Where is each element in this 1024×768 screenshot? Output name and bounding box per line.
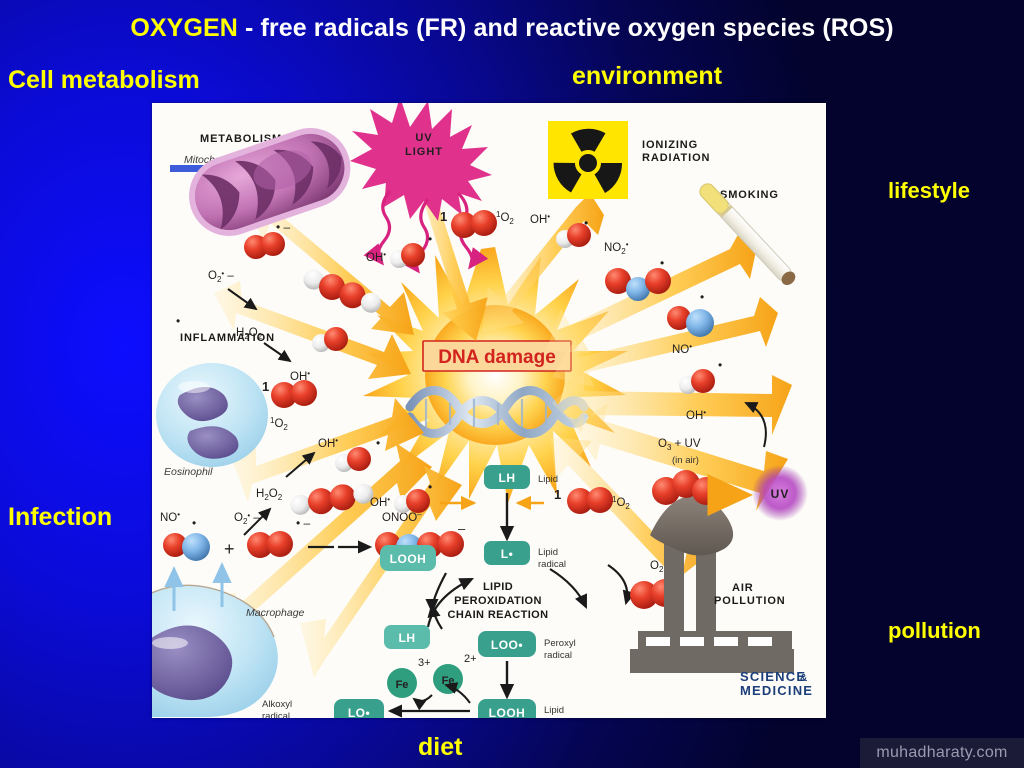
tag-alkoxyl: LO• xyxy=(348,706,370,718)
title-highlight: OXYGEN xyxy=(130,14,238,42)
tag-lipid-radical: L• xyxy=(501,547,514,561)
reagent-hydroxyl-lipid: OH• xyxy=(370,495,390,509)
tag-peroxyl: LOO• xyxy=(491,638,523,652)
edge-label-environment: environment xyxy=(572,62,722,91)
charge-iron-two: 2+ xyxy=(464,653,477,665)
slide-canvas: OXYGEN - free radicals (FR) and reactive… xyxy=(0,0,1024,768)
edge-label-cell-metabolism: Cell metabolism xyxy=(8,66,200,95)
species-nitric-oxide-smoking: NO• xyxy=(672,342,692,356)
node-looh-left: LOOH xyxy=(380,545,436,571)
node-peroxyl: LOO• xyxy=(478,631,536,657)
radical-dot-hydroxyl-eosino: • xyxy=(376,436,380,450)
edge-label-infection: Infection xyxy=(8,503,112,532)
edge-label-pollution: pollution xyxy=(888,618,981,644)
caption-peroxyl-1: Peroxyl xyxy=(544,638,576,649)
tag-lipid-peroxide: LOOH xyxy=(489,706,526,718)
species-ozone-uv: O3 + UV xyxy=(658,438,701,452)
node-lh-left: LH xyxy=(384,625,430,649)
heading-uv-light: UV xyxy=(415,132,432,144)
species-ozone-uv-note: (in air) xyxy=(672,455,699,466)
charge-iron-three: 3+ xyxy=(418,657,431,669)
caption-peroxyl-2: radical xyxy=(544,650,572,661)
label-macrophage: Macrophage xyxy=(246,607,305,619)
credit-science-medicine: SCIENCE MEDICINE & xyxy=(740,669,813,698)
superscript-one-top: 1 xyxy=(440,209,447,224)
node-alkoxyl: LO• xyxy=(334,699,384,718)
species-nitric-oxide-macrophage: NO• xyxy=(160,510,180,524)
node-lipid-radical: L• xyxy=(484,541,530,565)
radical-dot-lipid: • xyxy=(428,480,432,494)
heading-inflammation: INFLAMMATION xyxy=(180,332,275,344)
radical-dot-no: • xyxy=(700,290,704,304)
heading-air-pollution-1: AIR xyxy=(732,582,754,594)
caption-lipid-peroxide-1: Lipid xyxy=(544,705,564,716)
title-rest: - free radicals (FR) and reactive oxygen… xyxy=(238,14,894,42)
node-lipid-peroxide: LOOH xyxy=(478,699,536,718)
uv-badge-label: UV xyxy=(771,487,790,501)
radical-dot-superoxide: • – xyxy=(276,220,291,234)
caption-lipid-radical-1: Lipid xyxy=(538,547,558,558)
heading-smoking: SMOKING xyxy=(720,189,779,201)
radical-dot-superoxide-macro: • – xyxy=(296,516,311,530)
watermark: muhadharaty.com xyxy=(860,738,1024,768)
species-superoxide-metabolism: O2• – xyxy=(208,269,234,284)
radical-dot-no-macro: • xyxy=(192,516,196,530)
ros-diagram-panel: DNA damage xyxy=(152,103,826,718)
radical-dot-hydroxyl-metab: • xyxy=(176,314,180,328)
charge-peroxynitrite: – xyxy=(458,521,466,536)
species-hydroxyl-ionizing: OH• xyxy=(530,212,550,226)
heading-ionizing-radiation-1: IONIZING xyxy=(642,139,698,151)
credit-ampersand: & xyxy=(800,673,807,684)
lipid-cycle-title-3: CHAIN REACTION xyxy=(448,609,549,621)
radical-dot-ionizing: • xyxy=(584,216,588,230)
tag-looh-left: LOOH xyxy=(390,552,427,566)
radical-dot-no2: • xyxy=(660,256,664,270)
radical-dot-uv: • xyxy=(428,232,432,246)
species-hydroxyl-uv: OH• xyxy=(366,250,386,264)
credit-line-1: SCIENCE xyxy=(740,669,806,684)
iron-two-icon: Fe xyxy=(433,664,463,694)
heading-ionizing-radiation-2: RADIATION xyxy=(642,152,710,164)
lipid-cycle-title-1: LIPID xyxy=(483,581,513,593)
slide-title: OXYGEN - free radicals (FR) and reactive… xyxy=(0,14,1024,43)
label-eosinophil: Eosinophil xyxy=(164,466,213,478)
heading-uv-light-2: LIGHT xyxy=(405,146,443,158)
uv-badge: UV xyxy=(752,465,808,521)
caption-alkoxyl-2: radical xyxy=(262,711,290,718)
caption-lipid-radical-2: radical xyxy=(538,559,566,570)
dna-damage-label: DNA damage xyxy=(438,347,556,368)
tag-lh-left: LH xyxy=(399,631,416,645)
svg-text:Fe: Fe xyxy=(396,679,409,691)
node-lipid-lh-top: LH xyxy=(484,465,530,489)
caption-alkoxyl-1: Alkoxyl xyxy=(262,699,292,710)
species-superoxide-macrophage: O2• – xyxy=(234,511,260,526)
species-hydroxyl-pollution: OH• xyxy=(686,408,706,422)
eosinophil-icon xyxy=(156,363,268,467)
superscript-one-lipid: 1 xyxy=(554,487,561,502)
plus-sign-macrophage: + xyxy=(224,539,235,559)
edge-label-diet: diet xyxy=(418,733,462,762)
heading-air-pollution-2: POLLUTION xyxy=(714,595,786,607)
species-hydroxyl-eosinophil: OH• xyxy=(318,436,338,450)
radical-dot-pollution: • xyxy=(718,358,722,372)
caption-lipid-peroxide-2: peroxide xyxy=(544,717,580,718)
edge-label-lifestyle: lifestyle xyxy=(888,178,970,204)
tag-lh-top: LH xyxy=(499,471,516,485)
superscript-one-eosino: 1 xyxy=(262,379,269,394)
species-nitrogen-dioxide: NO2• xyxy=(604,240,629,256)
credit-line-2: MEDICINE xyxy=(740,683,813,698)
caption-lipid: Lipid xyxy=(538,474,558,485)
lipid-cycle-title-2: PEROXIDATION xyxy=(454,595,542,607)
iron-three-icon: Fe xyxy=(387,668,417,698)
